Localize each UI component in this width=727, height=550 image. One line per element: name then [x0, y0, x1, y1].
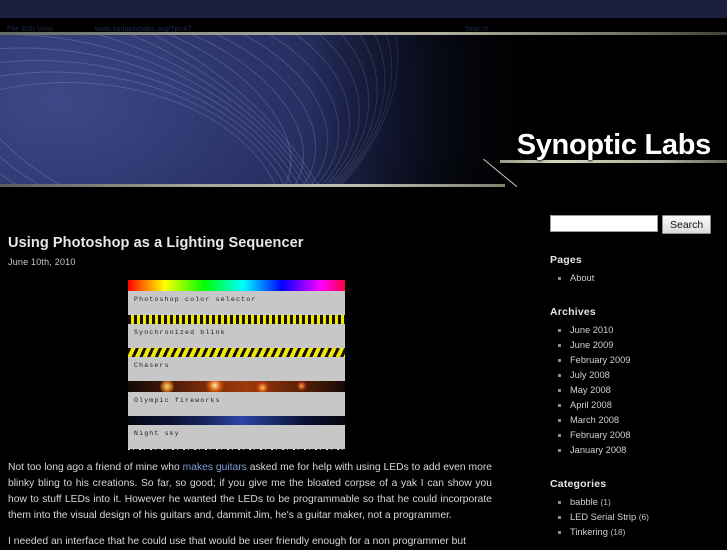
post-paragraph-2: I needed an interface that he could use … — [8, 534, 492, 550]
figure-band-fireworks — [128, 381, 345, 392]
figure-label: Olympic fireworks — [128, 392, 345, 411]
banner-top-edge — [0, 32, 727, 35]
list-item[interactable]: babble (1) — [536, 495, 727, 510]
list-item[interactable]: February 2008 — [536, 428, 727, 443]
figure-row: Olympic fireworks — [128, 381, 345, 411]
bullet-icon — [558, 329, 561, 332]
list-item[interactable]: LED Serial Strip (6) — [536, 510, 727, 525]
sidebar-heading-pages: Pages — [550, 254, 727, 266]
bullet-icon — [558, 449, 561, 452]
sidebar-list-archives: June 2010 June 2009 February 2009 July 2… — [536, 323, 727, 458]
figure-label: Photoshop color selector — [128, 291, 345, 310]
figure-label: Synchronized blink — [128, 324, 345, 343]
figure-row: Synchronized blink — [128, 315, 345, 343]
para1-text-a: Not too long ago a friend of mine who — [8, 462, 183, 473]
search-input[interactable] — [550, 215, 658, 232]
figure-band-rainbow — [128, 280, 345, 291]
category-count: (1) — [601, 497, 611, 507]
category-count: (6) — [639, 512, 649, 522]
browser-top-strip — [0, 0, 727, 18]
bullet-icon — [558, 501, 561, 504]
adminbar-search[interactable]: Search — [458, 23, 496, 32]
figure-row: Night sky — [128, 416, 345, 444]
sidebar-link[interactable]: About — [570, 273, 594, 283]
sidebar-link[interactable]: February 2009 — [570, 355, 630, 365]
bullet-icon — [558, 419, 561, 422]
post-figure-photoshop-strips: Photoshop color selector Synchronized bl… — [128, 280, 345, 450]
post-title[interactable]: Using Photoshop as a Lighting Sequencer — [8, 235, 492, 251]
figure-band-chaser — [128, 348, 345, 357]
banner-right-fade — [307, 32, 727, 187]
banner-background — [0, 32, 727, 187]
list-item[interactable]: March 2008 — [536, 413, 727, 428]
figure-row: Photoshop color selector — [128, 280, 345, 310]
list-item[interactable]: May 2008 — [536, 383, 727, 398]
figure-row: City lights — [128, 449, 345, 450]
bullet-icon — [558, 389, 561, 392]
search-button[interactable]: Search — [662, 215, 711, 234]
banner-diagonal-edge — [483, 159, 517, 187]
bullet-icon — [558, 374, 561, 377]
figure-band-blink — [128, 315, 345, 324]
bullet-icon — [558, 516, 561, 519]
post-paragraph-1: Not too long ago a friend of mine who ma… — [8, 460, 492, 524]
figure-label: Chasers — [128, 357, 345, 376]
page-body: Using Photoshop as a Lighting Sequencer … — [0, 187, 727, 545]
sidebar-link[interactable]: February 2008 — [570, 430, 630, 440]
bullet-icon — [558, 434, 561, 437]
figure-band-city-lights — [128, 449, 345, 450]
sidebar-list-pages: About — [536, 271, 727, 286]
list-item[interactable]: February 2009 — [536, 353, 727, 368]
sidebar-link[interactable]: Tinkering — [570, 527, 608, 537]
site-banner: Synoptic Labs — [0, 32, 727, 187]
list-item[interactable]: Tinkering (18) — [536, 525, 727, 540]
bullet-icon — [558, 404, 561, 407]
sidebar-link[interactable]: July 2008 — [570, 370, 610, 380]
sidebar-list-categories: babble (1) LED Serial Strip (6) Tinkerin… — [536, 495, 727, 540]
browser-admin-bar[interactable]: File Edit View www.synopticlabs.org/?p=4… — [0, 18, 727, 32]
guitars-link[interactable]: makes guitars — [183, 462, 247, 473]
sidebar-link[interactable]: March 2008 — [570, 415, 619, 425]
list-item[interactable]: June 2010 — [536, 323, 727, 338]
sidebar-heading-archives: Archives — [550, 306, 727, 318]
adminbar-menu[interactable]: File Edit View — [0, 23, 60, 32]
post-date: June 10th, 2010 — [8, 257, 492, 267]
bullet-icon — [558, 531, 561, 534]
list-item[interactable]: June 2009 — [536, 338, 727, 353]
sidebar-link[interactable]: April 2008 — [570, 400, 612, 410]
bullet-icon — [558, 344, 561, 347]
main-content: Using Photoshop as a Lighting Sequencer … — [8, 187, 492, 550]
list-item[interactable]: July 2008 — [536, 368, 727, 383]
bullet-icon — [558, 277, 561, 280]
figure-band-night-sky — [128, 416, 345, 425]
figure-row: Chasers — [128, 348, 345, 376]
list-item[interactable]: January 2008 — [536, 443, 727, 458]
bullet-icon — [558, 359, 561, 362]
sidebar-link[interactable]: January 2008 — [570, 445, 626, 455]
search-form[interactable]: Search — [550, 215, 727, 234]
list-item[interactable]: April 2008 — [536, 398, 727, 413]
sidebar-heading-categories: Categories — [550, 478, 727, 490]
sidebar-link[interactable]: May 2008 — [570, 385, 611, 395]
adminbar-url[interactable]: www.synopticlabs.org/?p=47 — [65, 23, 199, 32]
sidebar-link[interactable]: LED Serial Strip — [570, 512, 636, 522]
sidebar-link[interactable]: June 2009 — [570, 340, 613, 350]
list-item[interactable]: About — [536, 271, 727, 286]
figure-label: Night sky — [128, 425, 345, 444]
category-count: (18) — [611, 527, 626, 537]
sidebar: Search Pages About Archives June 2010 Ju… — [536, 187, 727, 540]
sidebar-link[interactable]: June 2010 — [570, 325, 613, 335]
sidebar-link[interactable]: babble — [570, 497, 598, 507]
site-title[interactable]: Synoptic Labs — [517, 129, 711, 162]
